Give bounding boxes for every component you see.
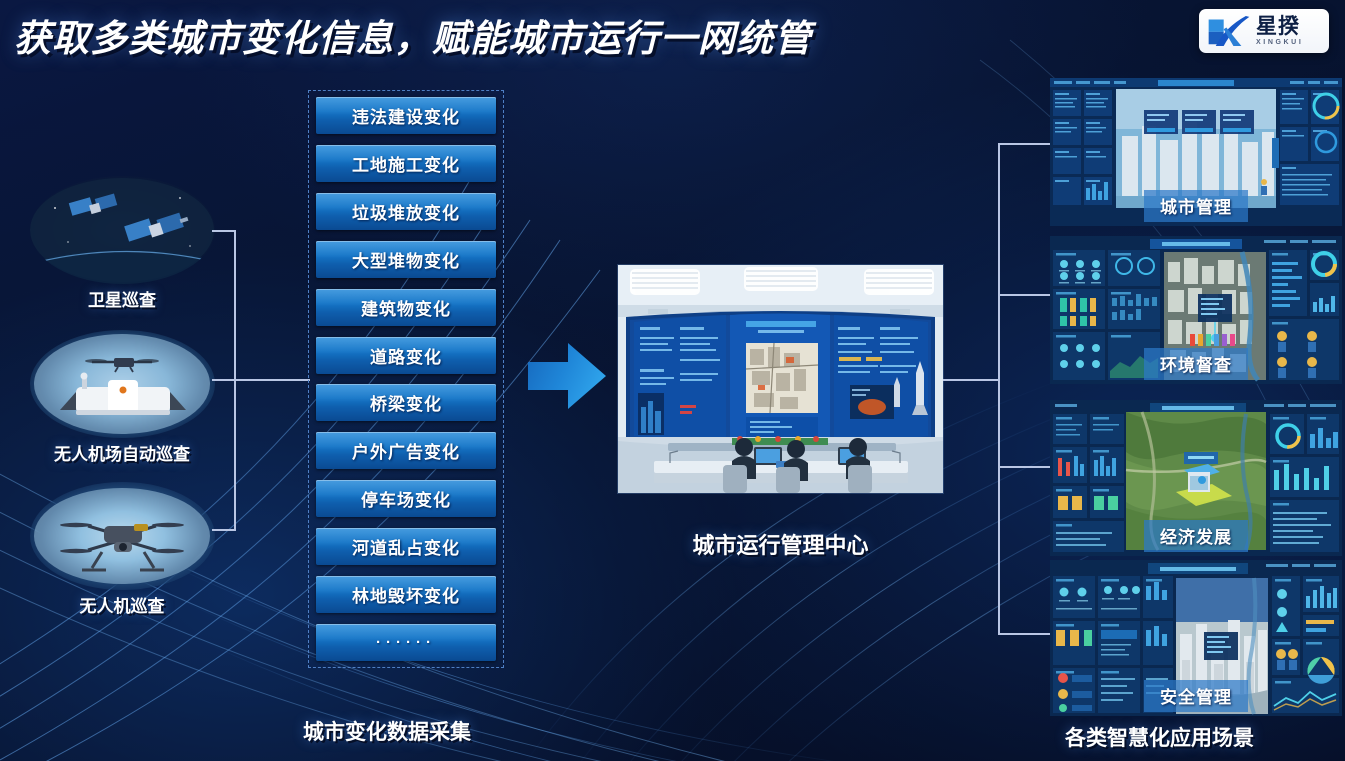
change-type-item[interactable]: 停车场变化 <box>316 480 496 517</box>
scenario-label-economic-development: 经济发展 <box>1144 520 1248 552</box>
source-label-drone-dock: 无人机场自动巡查 <box>22 440 222 465</box>
right-arrow-icon <box>528 341 606 411</box>
change-type-label: 道路变化 <box>370 343 442 368</box>
scenario-label-safety-management: 安全管理 <box>1144 680 1248 712</box>
change-type-list: 违法建设变化 工地施工变化 垃圾堆放变化 大型堆物变化 建筑物变化 道路变化 桥… <box>308 90 504 668</box>
change-type-label: 户外广告变化 <box>352 438 460 463</box>
change-type-label: 河道乱占变化 <box>352 534 460 559</box>
change-type-label: 停车场变化 <box>361 486 451 511</box>
slide-root: 获取多类城市变化信息，赋能城市运行一网统管 星揆 XINGKUI <box>0 0 1345 761</box>
scenario-label-environment-inspection: 环境督查 <box>1144 348 1248 380</box>
source-item-drone[interactable]: 无人机巡查 <box>22 482 222 617</box>
change-type-label: 林地毁坏变化 <box>352 582 460 607</box>
left-bracket-to-list <box>234 379 310 381</box>
change-type-label: 桥梁变化 <box>370 390 442 415</box>
satellite-image <box>30 176 215 284</box>
drone-image <box>30 482 215 590</box>
change-type-label: 工地施工变化 <box>352 151 460 176</box>
change-type-label: 大型堆物变化 <box>352 247 460 272</box>
right-bracket-branch-2 <box>998 294 1050 296</box>
satellite-icon <box>30 176 215 284</box>
control-room-illustration <box>618 265 943 493</box>
change-type-label: 违法建设变化 <box>352 103 460 128</box>
page-title: 获取多类城市变化信息，赋能城市运行一网统管 <box>14 8 812 62</box>
right-bracket-input <box>943 379 999 381</box>
source-item-satellite[interactable]: 卫星巡查 <box>22 176 222 311</box>
right-bracket-vertical <box>998 143 1000 634</box>
control-room-photo <box>618 265 943 493</box>
drone-dock-icon <box>30 330 215 438</box>
drone-icon <box>30 482 215 590</box>
change-type-item[interactable]: 林地毁坏变化 <box>316 576 496 613</box>
change-type-item[interactable]: 桥梁变化 <box>316 384 496 421</box>
scenario-panel-environment-inspection[interactable]: 环境督查 <box>1050 236 1342 384</box>
source-label-satellite: 卫星巡查 <box>22 286 222 311</box>
change-type-label: 建筑物变化 <box>361 295 451 320</box>
source-label-drone: 无人机巡查 <box>22 592 222 617</box>
right-bracket-branch-3 <box>998 466 1050 468</box>
caption-data-collection: 城市变化数据采集 <box>303 716 471 746</box>
drone-dock-image <box>30 330 215 438</box>
change-type-label: ······ <box>376 634 436 651</box>
right-bracket-branch-1 <box>998 143 1050 145</box>
logo-k-mark-icon <box>1206 14 1252 48</box>
scenario-label-city-management: 城市管理 <box>1144 190 1248 222</box>
change-type-item[interactable]: 道路变化 <box>316 337 496 374</box>
left-bracket-stub-satellite <box>212 230 236 232</box>
left-bracket-stub-drone <box>212 529 236 531</box>
scenario-panel-city-management[interactable]: 城市管理 <box>1050 78 1342 226</box>
source-item-drone-dock[interactable]: 无人机场自动巡查 <box>22 330 222 465</box>
logo-chinese-name: 星揆 <box>1256 16 1303 37</box>
change-type-item[interactable]: 垃圾堆放变化 <box>316 193 496 230</box>
change-type-item[interactable]: 违法建设变化 <box>316 97 496 134</box>
control-room-caption: 城市运行管理中心 <box>618 528 943 560</box>
change-type-item[interactable]: 工地施工变化 <box>316 145 496 182</box>
left-bracket-stub-drone-dock <box>212 379 236 381</box>
change-type-item[interactable]: 大型堆物变化 <box>316 241 496 278</box>
scenario-panel-safety-management[interactable]: 安全管理 <box>1050 560 1342 716</box>
change-type-item[interactable]: 建筑物变化 <box>316 289 496 326</box>
brand-logo: 星揆 XINGKUI <box>1199 9 1329 53</box>
right-bracket-branch-4 <box>998 633 1050 635</box>
logo-english-name: XINGKUI <box>1256 39 1303 46</box>
change-type-item[interactable]: 河道乱占变化 <box>316 528 496 565</box>
change-type-item-more[interactable]: ······ <box>316 624 496 661</box>
scenario-panel-economic-development[interactable]: 经济发展 <box>1050 400 1342 556</box>
caption-application-scenarios: 各类智慧化应用场景 <box>1065 722 1254 752</box>
change-type-item[interactable]: 户外广告变化 <box>316 432 496 469</box>
change-type-label: 垃圾堆放变化 <box>352 199 460 224</box>
